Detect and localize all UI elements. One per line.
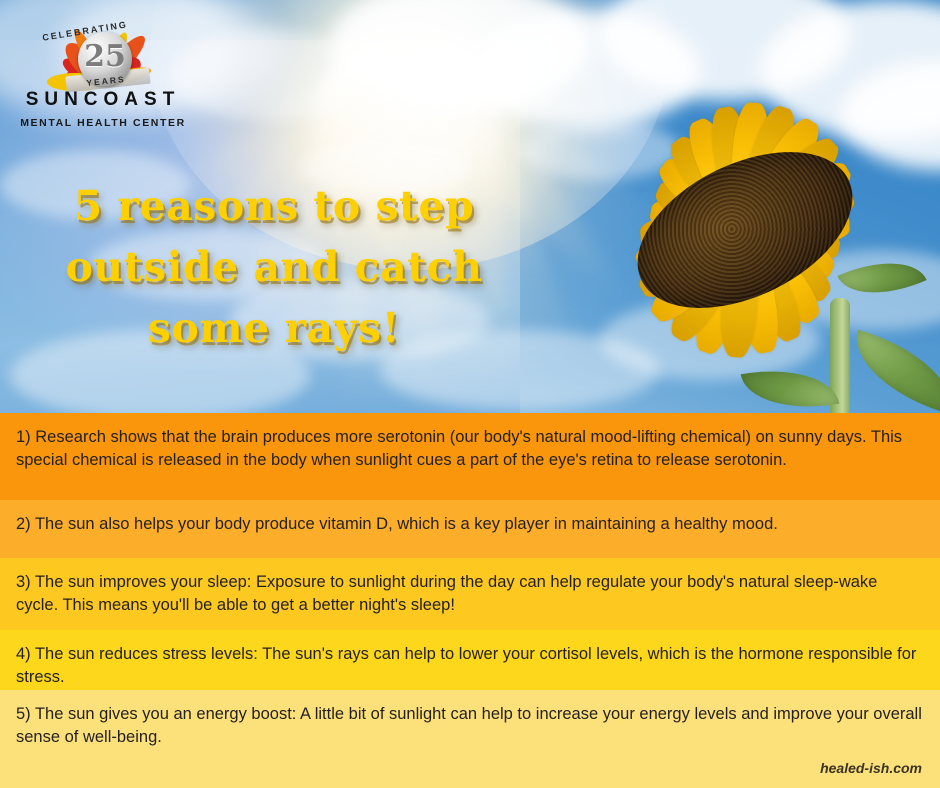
- reason-band-2: 2) The sun also helps your body produce …: [0, 500, 940, 558]
- logo-tagline: MENTAL HEALTH CENTER: [8, 117, 198, 129]
- sunflower-leaf-left: [741, 358, 840, 413]
- sunflower: [512, 108, 940, 413]
- headline-line-2: outside and catch: [24, 237, 524, 298]
- logo-name: SUNCOAST: [8, 89, 198, 111]
- sunflower-leaf-right: [842, 330, 940, 413]
- reason-band-4: 4) The sun reduces stress levels: The su…: [0, 630, 940, 690]
- reason-text-2: 2) The sun also helps your body produce …: [16, 513, 924, 536]
- reason-band-3: 3) The sun improves your sleep: Exposure…: [0, 558, 940, 630]
- headline-line-3: some rays!: [24, 298, 524, 359]
- reasons-list: 1) Research shows that the brain produce…: [0, 413, 940, 788]
- watermark: healed-ish.com: [820, 760, 922, 776]
- suncoast-logo[interactable]: 25 CELEBRATING YEARS SUNCOAST MENTAL HEA…: [8, 10, 198, 135]
- reason-text-1: 1) Research shows that the brain produce…: [16, 426, 924, 471]
- poster: 25 CELEBRATING YEARS SUNCOAST MENTAL HEA…: [0, 0, 940, 788]
- logo-anniversary-number: 25: [78, 39, 132, 74]
- reason-text-5: 5) The sun gives you an energy boost: A …: [16, 703, 924, 748]
- reason-band-1: 1) Research shows that the brain produce…: [0, 413, 940, 500]
- reason-text-4: 4) The sun reduces stress levels: The su…: [16, 643, 924, 688]
- sunflower-leaf-upper: [837, 243, 926, 312]
- headline: 5 reasons to step outside and catch some…: [24, 176, 524, 359]
- headline-line-1: 5 reasons to step: [24, 176, 524, 237]
- reason-text-3: 3) The sun improves your sleep: Exposure…: [16, 571, 924, 616]
- reason-band-5: 5) The sun gives you an energy boost: A …: [0, 690, 940, 788]
